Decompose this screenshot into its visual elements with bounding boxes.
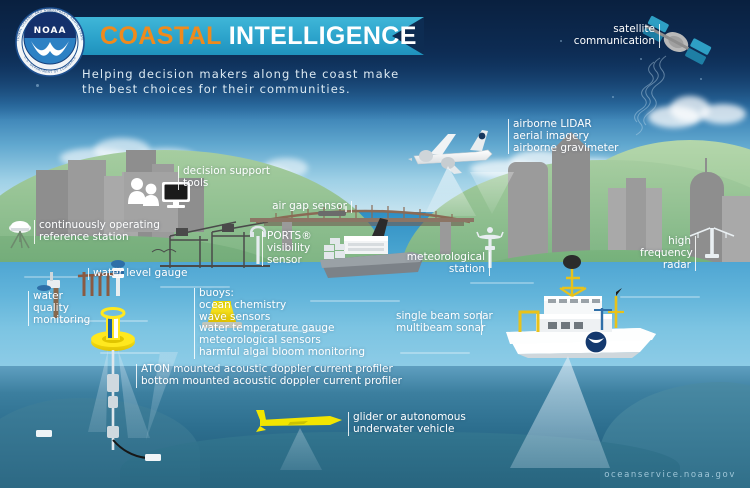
star xyxy=(612,96,614,98)
building xyxy=(508,162,548,262)
label-buoys: buoys: ocean chemistry wave sensors wate… xyxy=(194,288,365,359)
star xyxy=(36,84,39,87)
title-word-intelligence: INTELLIGENCE xyxy=(229,22,417,50)
label-air-gap-sensor: air gap sensor xyxy=(272,201,352,213)
subtitle-line-2: the best choices for their communities. xyxy=(82,82,452,97)
star xyxy=(700,78,702,80)
label-adcp: ATON mounted acoustic doppler current pr… xyxy=(136,364,402,388)
label-satellite-communication: satellite communication xyxy=(560,24,660,48)
star xyxy=(640,58,642,60)
wave-line xyxy=(24,276,78,278)
building-antenna xyxy=(705,158,707,174)
building xyxy=(722,196,750,262)
wave-line xyxy=(100,352,160,354)
wave-line xyxy=(400,352,470,354)
title-word-coastal: COASTAL xyxy=(100,22,221,50)
label-ports-visibility-sensor: PORTS® visibility sensor xyxy=(262,231,312,266)
page-title: COASTAL INTELLIGENCE xyxy=(100,20,417,52)
label-meteorological-station: meteorological station xyxy=(404,252,490,276)
label-high-frequency-radar: high frequency radar xyxy=(640,236,696,271)
label-water-quality-monitoring: water quality monitoring xyxy=(28,291,90,326)
label-glider-auv: glider or autonomous underwater vehicle xyxy=(348,412,466,436)
label-airborne-sensors: airborne LIDAR aerial imagery airborne g… xyxy=(508,119,618,154)
label-sonar: single beam sonar multibeam sonar xyxy=(396,311,482,335)
wave-line xyxy=(520,340,612,342)
subtitle-line-1: Helping decision makers along the coast … xyxy=(82,67,452,82)
seabed-middle xyxy=(120,432,680,488)
label-water-level-gauge: water level gauge xyxy=(88,268,187,280)
label-decision-support-tools: decision support tools xyxy=(178,166,270,190)
footer-url: oceanservice.noaa.gov xyxy=(604,470,736,480)
building-peaked xyxy=(552,148,590,262)
subtitle: Helping decision makers along the coast … xyxy=(82,67,452,97)
wave-line xyxy=(620,296,700,298)
infographic-canvas: NOAA NATIONAL OCEANIC AND ATMOSPHERIC AD… xyxy=(0,0,750,488)
wave-line xyxy=(470,282,534,284)
label-cors: continuously operating reference station xyxy=(34,220,160,244)
